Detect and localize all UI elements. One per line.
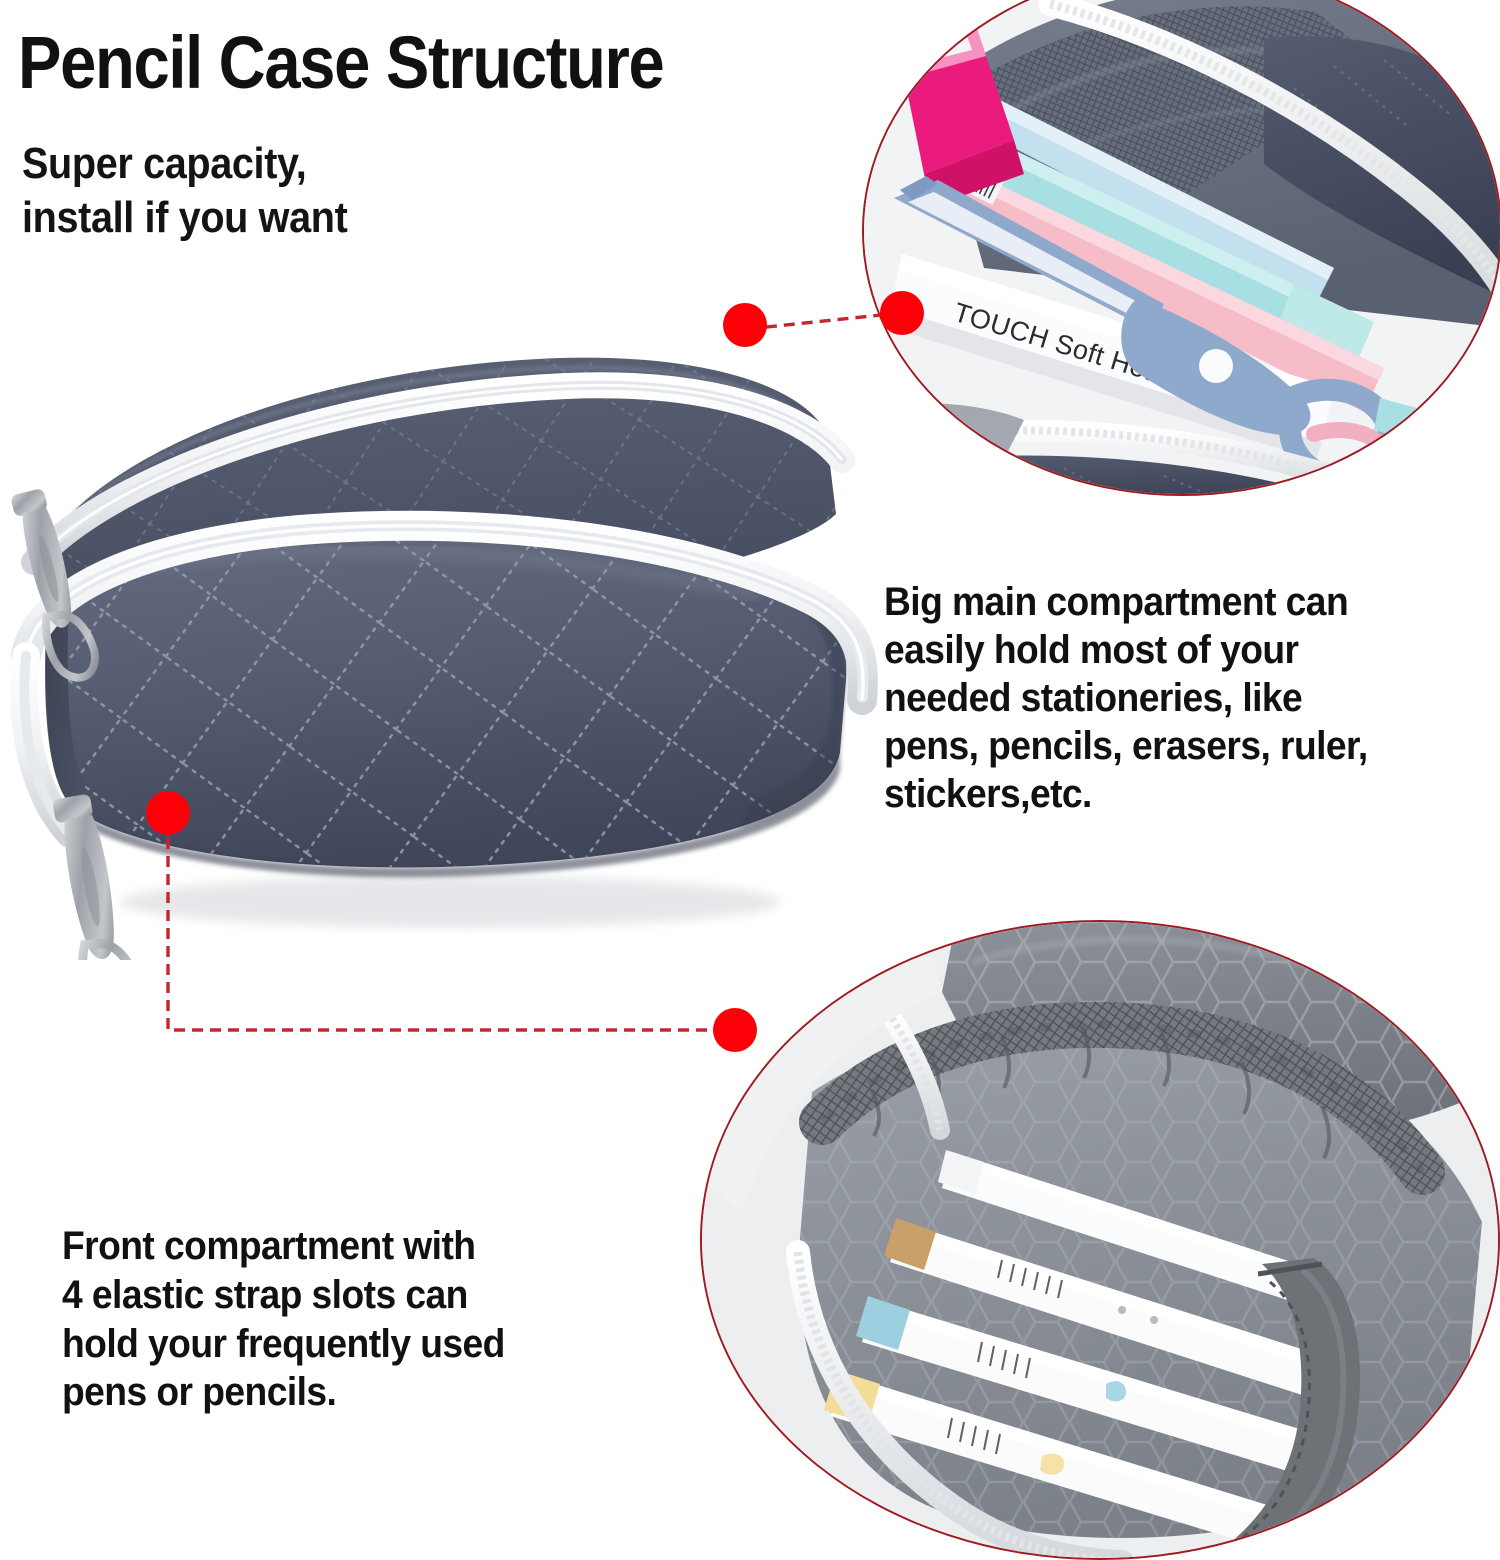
- page-title: Pencil Case Structure: [18, 26, 663, 100]
- caption-front-compartment: Front compartment with 4 elastic strap s…: [62, 1222, 583, 1417]
- product-photo: [0, 300, 880, 960]
- callout-dot-case-front[interactable]: [146, 791, 190, 835]
- caption-main-compartment: Big main compartment can easily hold mos…: [884, 578, 1442, 818]
- inset-front-compartment: [700, 920, 1500, 1560]
- page-subtitle: Super capacity, install if you want: [22, 137, 347, 244]
- callout-dot-inset-bottom[interactable]: [713, 1008, 757, 1052]
- inset-bottom-image: [702, 922, 1500, 1560]
- inset-top-image: TOUCH Soft Head: [864, 0, 1500, 496]
- callout-dot-case-top[interactable]: [723, 303, 767, 347]
- infographic-canvas: TOUCH Soft Head: [0, 0, 1500, 1462]
- callout-dot-inset-top[interactable]: [880, 291, 924, 335]
- inset-main-compartment: TOUCH Soft Head: [862, 0, 1500, 496]
